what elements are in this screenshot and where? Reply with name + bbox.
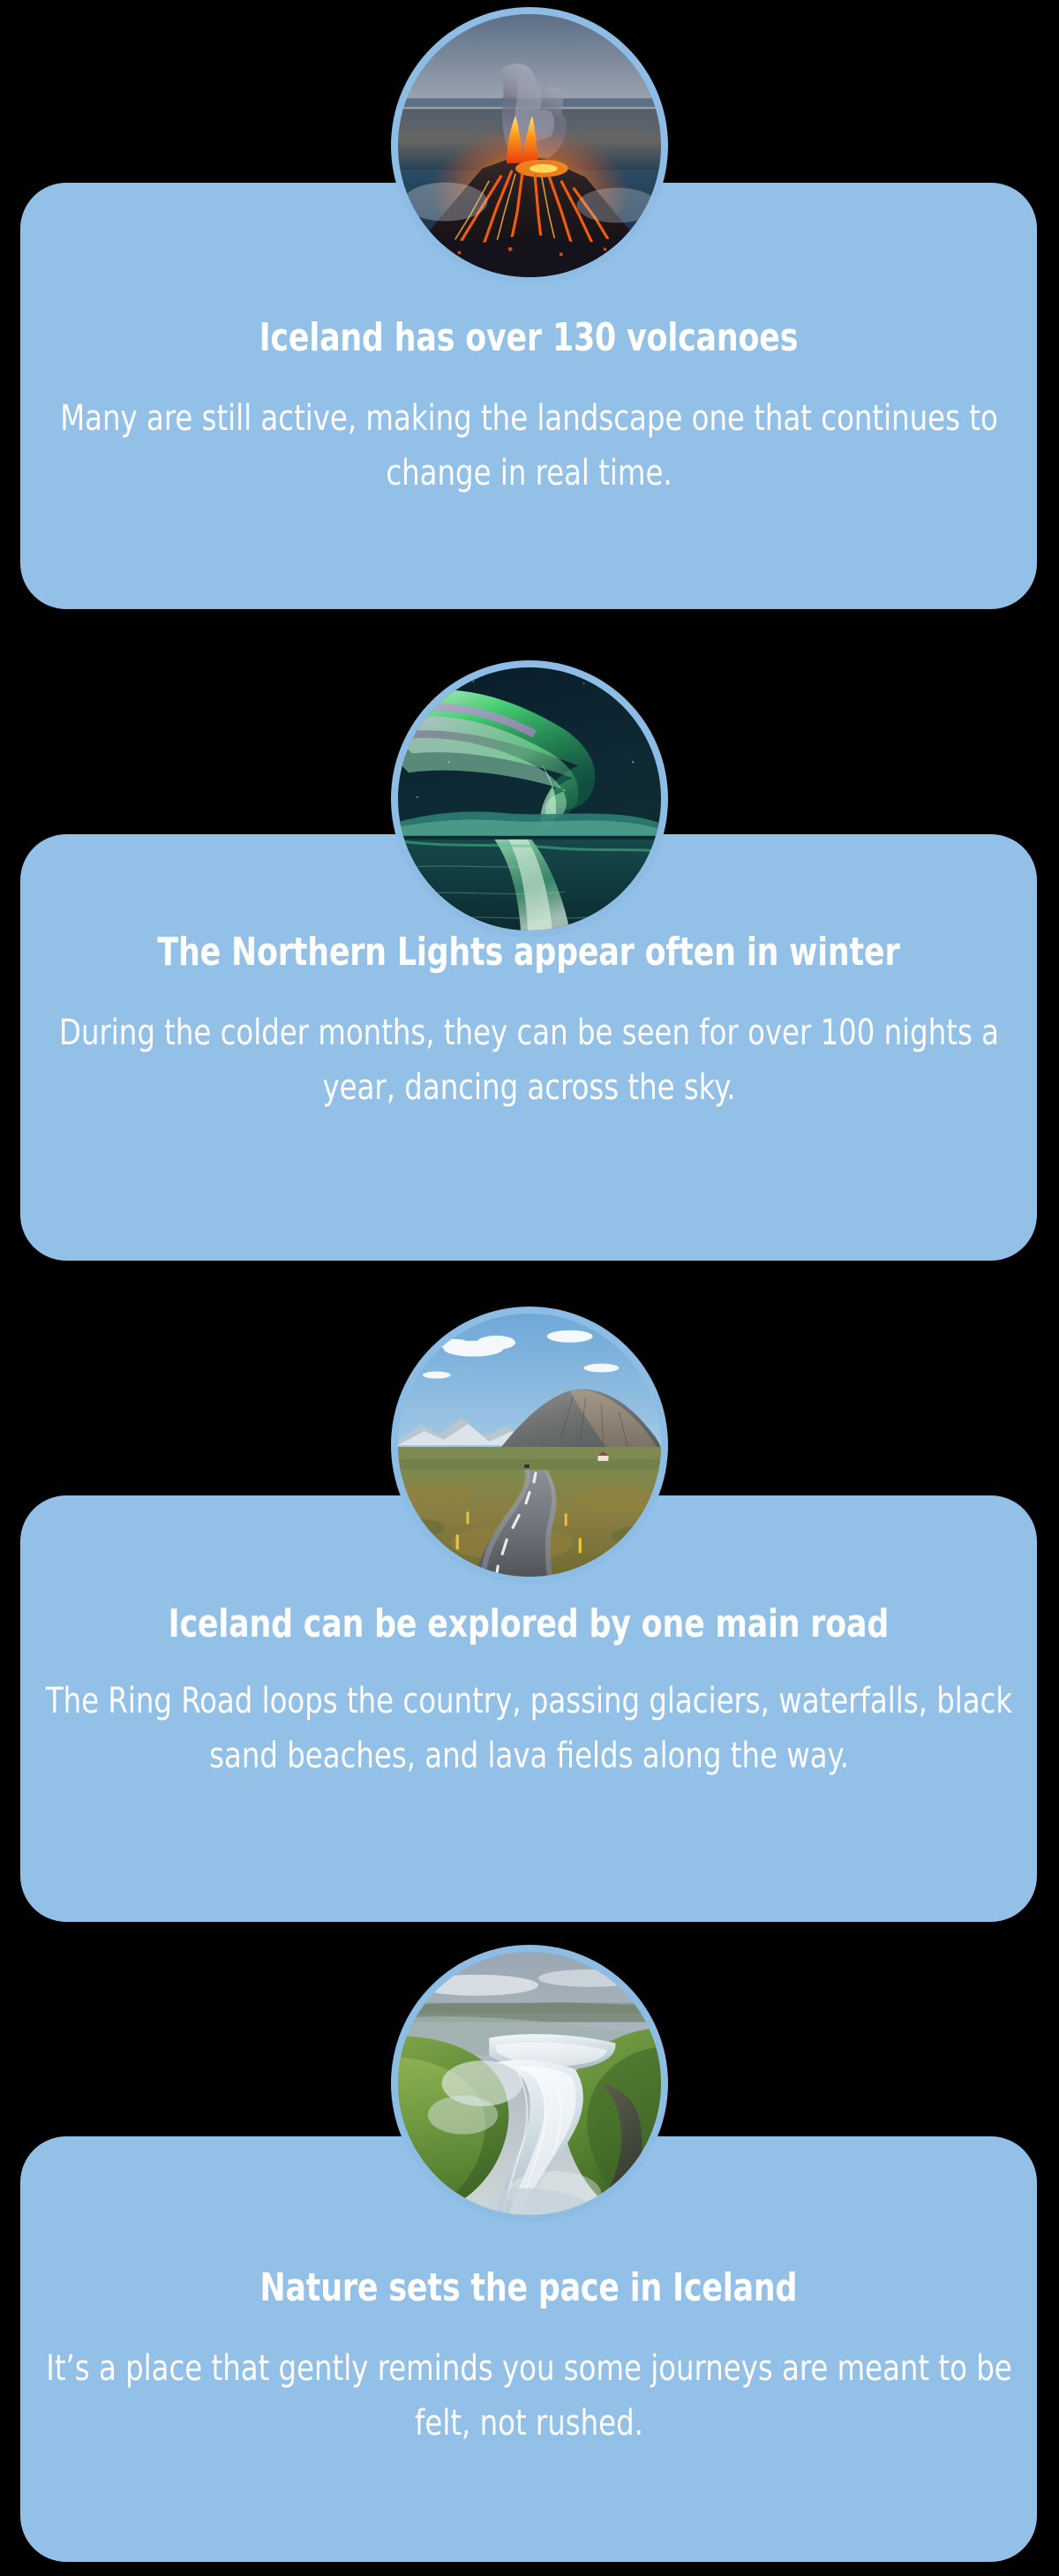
card-badge-nature-pace [391,1945,668,2222]
ring-road-photo [398,1314,661,1577]
card-badge-ring-road [391,1307,668,1584]
card-badge-volcanoes [391,7,668,284]
card-body: The Ring Road loops the country, passing… [44,1674,1014,1783]
card-title: Nature sets the pace in Iceland [260,2265,798,2311]
card-body: During the colder months, they can be se… [44,1006,1014,1115]
card-title: Iceland has over 130 volcanoes [259,315,799,361]
infographic-page: Iceland has over 130 volcanoes Many are … [0,0,1059,2576]
card-body: It’s a place that gently reminds you som… [44,2341,1014,2451]
card-body: Many are still active, making the landsc… [44,391,1014,501]
card-badge-northern-lights [391,660,668,938]
card-title: Iceland can be explored by one main road [169,1601,889,1647]
volcano-eruption-photo [398,14,661,277]
waterfall-canyon-photo [398,1952,661,2215]
northern-lights-photo [398,667,661,930]
